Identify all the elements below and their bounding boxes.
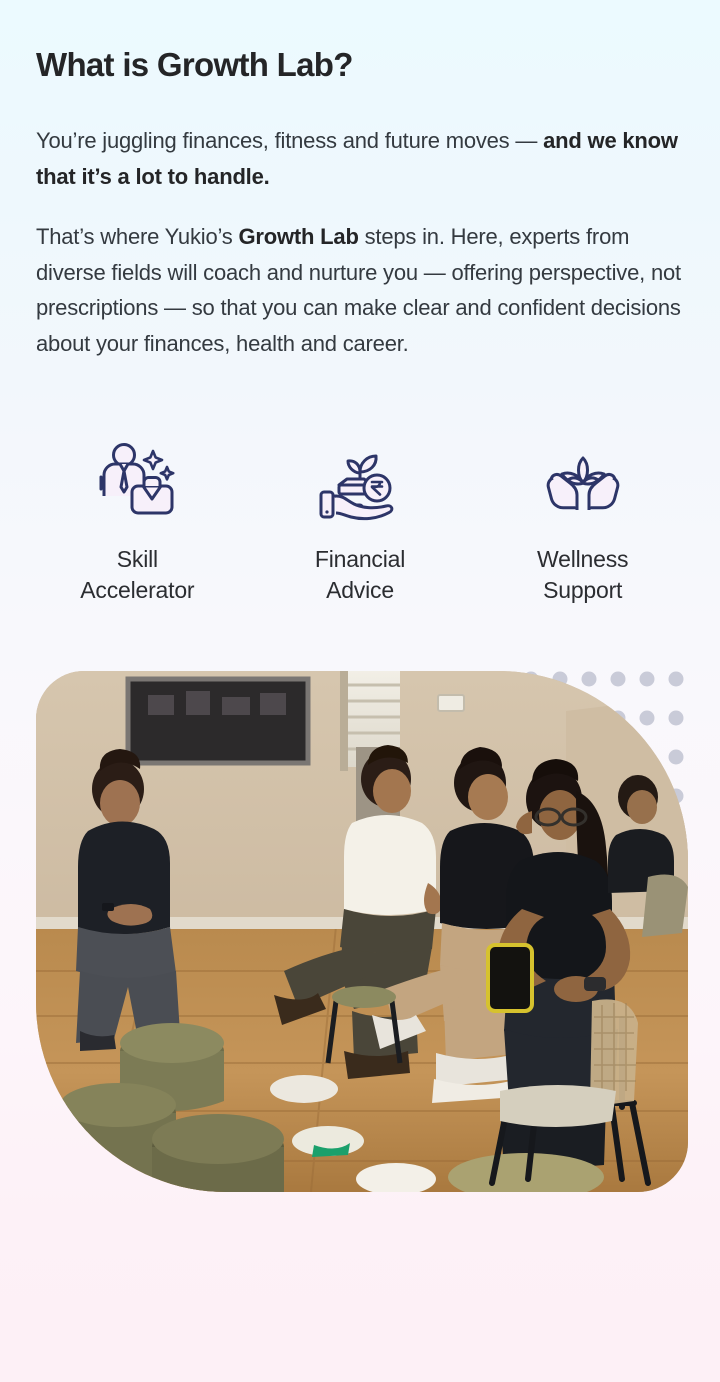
feature-item-wellness-support[interactable]: WellnessSupport <box>471 434 694 607</box>
wellness-support-icon <box>537 434 629 526</box>
feature-label-skill-accelerator: SkillAccelerator <box>80 544 194 607</box>
feature-list: SkillAccelerator FinancialAdvice <box>0 434 720 607</box>
financial-advice-icon <box>314 434 406 526</box>
photo-image <box>36 671 688 1192</box>
feature-item-financial-advice[interactable]: FinancialAdvice <box>249 434 472 607</box>
feature-item-skill-accelerator[interactable]: SkillAccelerator <box>26 434 249 607</box>
page-title: What is Growth Lab? <box>36 46 684 85</box>
section-content: What is Growth Lab? You’re juggling fina… <box>0 0 720 362</box>
brand-growth-lab: Growth Lab <box>238 224 358 249</box>
feature-label-financial-advice: FinancialAdvice <box>315 544 405 607</box>
group-session-photo <box>36 671 688 1192</box>
paragraph-detail: That’s where Yukio’s Growth Lab steps in… <box>36 219 684 362</box>
feature-label-wellness-support: WellnessSupport <box>537 544 628 607</box>
paragraph-intro: You’re juggling finances, fitness and fu… <box>36 123 684 194</box>
photo-section <box>0 662 720 1222</box>
paragraph-intro-lead: You’re juggling finances, fitness and fu… <box>36 128 543 153</box>
skill-accelerator-icon <box>91 434 183 526</box>
paragraph-detail-lead: That’s where Yukio’s <box>36 224 238 249</box>
